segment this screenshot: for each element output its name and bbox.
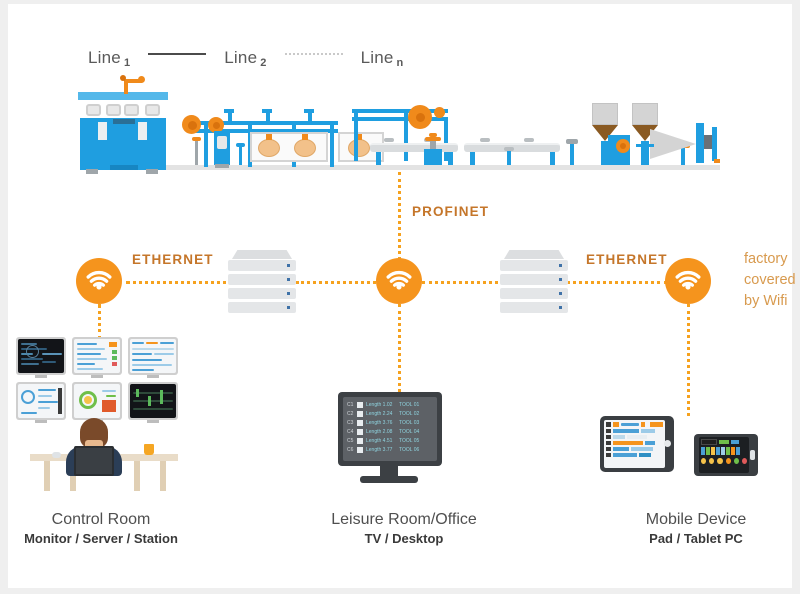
tv-row-value-secondary: TOOL 03 <box>399 420 425 426</box>
legend-label: Line <box>88 48 121 68</box>
phone-device[interactable] <box>694 434 758 476</box>
status-led <box>287 306 290 309</box>
ethernet-label-right: ETHERNET <box>586 252 668 267</box>
legend-item-line2: Line 2 <box>224 48 266 68</box>
caption-title: Control Room <box>8 510 194 530</box>
monitor-screen <box>74 384 120 418</box>
server-unit <box>500 288 568 299</box>
wifi-icon <box>85 269 113 293</box>
status-led <box>287 264 290 267</box>
tv-row-label: C4 <box>347 429 354 435</box>
caption-title: Mobile Device <box>600 510 792 530</box>
control-room-monitor-wall[interactable] <box>16 337 178 420</box>
tablet-device[interactable] <box>600 416 674 472</box>
tv-row-label: C5 <box>347 438 354 444</box>
server-unit <box>228 302 296 313</box>
caption-title: Leisure Room/Office <box>304 510 504 530</box>
tv-data-row: C4Length 2.08TOOL 04 <box>347 427 433 436</box>
status-led <box>559 278 562 281</box>
tv-row-value-primary: Length 3.76 <box>366 420 396 426</box>
status-led <box>559 306 562 309</box>
desktop-tv-monitor[interactable]: C1Length 1.02TOOL 01C2Length 2.24TOOL 02… <box>338 392 442 466</box>
feed-line-icon <box>636 142 654 148</box>
ethernet-link-4 <box>566 281 668 284</box>
legend-label: Line <box>361 48 394 68</box>
wifi-note-line: factory <box>744 249 800 270</box>
tv-stand-base <box>360 476 418 483</box>
tv-row-value-secondary: TOOL 06 <box>399 447 425 453</box>
caption-subtitle: Monitor / Server / Station <box>8 530 194 548</box>
tv-data-row: C3Length 3.76TOOL 03 <box>347 418 433 427</box>
tv-row-indicator <box>357 411 363 417</box>
monitor-screen <box>18 384 64 418</box>
tv-row-value-primary: Length 2.24 <box>366 411 396 417</box>
monitor-stand <box>35 420 47 423</box>
wifi-coverage-note: factory covered by Wifi <box>744 249 800 312</box>
tv-row-indicator <box>357 420 363 426</box>
monitor-screen <box>74 339 120 373</box>
monitor-screen <box>130 384 176 418</box>
tv-row-label: C3 <box>347 420 354 426</box>
vessel-cage-icon <box>250 132 328 162</box>
tv-row-value-secondary: TOOL 05 <box>399 438 425 444</box>
tv-row-value-secondary: TOOL 02 <box>399 411 425 417</box>
caption-subtitle: TV / Desktop <box>304 530 504 548</box>
tv-row-value-primary: Length 3.77 <box>366 447 396 453</box>
press-machine-icon <box>420 133 446 165</box>
tv-row-value-primary: Length 2.08 <box>366 429 396 435</box>
server-stack-right[interactable] <box>500 250 568 314</box>
tv-row-indicator <box>357 402 363 408</box>
status-led <box>559 264 562 267</box>
caption-mobile-device: Mobile Device Pad / Tablet PC <box>600 510 792 548</box>
monitor-2[interactable] <box>72 337 122 375</box>
monitor-1[interactable] <box>16 337 66 375</box>
extruder-icon <box>650 123 720 165</box>
status-led <box>287 278 290 281</box>
legend-subscript: 2 <box>260 57 266 69</box>
sensor-post-icon <box>566 139 578 165</box>
drop-link-control-room <box>98 304 101 340</box>
tv-screen: C1Length 1.02TOOL 01C2Length 2.24TOOL 02… <box>343 397 437 461</box>
tv-row-indicator <box>357 438 363 444</box>
monitor-6[interactable] <box>128 382 178 420</box>
legend-connector-dotted <box>285 53 343 55</box>
mouse-icon <box>52 452 61 458</box>
monitor-3[interactable] <box>128 337 178 375</box>
sensor-post-icon <box>504 147 514 165</box>
monitor-stand <box>147 375 159 378</box>
tv-data-row: C1Length 1.02TOOL 01 <box>347 400 433 409</box>
legend-label: Line <box>224 48 257 68</box>
legend-item-linen: Line n <box>361 48 404 68</box>
server-unit <box>500 260 568 271</box>
tv-row-label: C2 <box>347 411 354 417</box>
server-unit <box>228 274 296 285</box>
sensor-post-icon <box>236 143 244 165</box>
monitor-4[interactable] <box>16 382 66 420</box>
monitor-stand <box>147 420 159 423</box>
sensor-post-icon <box>192 137 200 165</box>
caption-control-room: Control Room Monitor / Server / Station <box>8 510 194 548</box>
molding-machine-icon <box>80 92 166 154</box>
status-led <box>559 292 562 295</box>
server-unit <box>500 274 568 285</box>
tablet-screen <box>604 420 665 468</box>
server-unit <box>500 302 568 313</box>
monitor-screen <box>18 339 64 373</box>
tv-data-row: C2Length 2.24TOOL 02 <box>347 409 433 418</box>
monitor-stand <box>91 375 103 378</box>
profinet-label: PROFINET <box>412 204 489 219</box>
phone-home-button[interactable] <box>750 450 755 460</box>
pillar-machine-icon <box>214 131 230 165</box>
tv-row-value-primary: Length 4.51 <box>366 438 396 444</box>
drop-link-mobile-device <box>687 304 690 416</box>
tv-row-indicator <box>357 447 363 453</box>
laptop-icon <box>74 446 114 476</box>
tv-row-value-secondary: TOOL 01 <box>399 402 425 408</box>
server-top-cap <box>504 250 564 259</box>
ethernet-link-3 <box>422 281 504 284</box>
production-line-illustration <box>80 92 720 170</box>
wifi-note-line: covered <box>744 270 800 291</box>
factory-floor <box>80 165 720 170</box>
tv-row-value-primary: Length 1.02 <box>366 402 396 408</box>
ethernet-link-1 <box>126 281 234 284</box>
ethernet-label-left: ETHERNET <box>132 252 214 267</box>
rotary-unit-icon <box>608 135 632 165</box>
ethernet-link-2 <box>296 281 376 284</box>
profinet-link-vertical <box>398 172 401 260</box>
legend-connector-solid <box>148 53 206 55</box>
wifi-node-center[interactable] <box>376 258 422 304</box>
wifi-node-left[interactable] <box>76 258 122 304</box>
monitor-screen <box>130 339 176 373</box>
monitor-5[interactable] <box>72 382 122 420</box>
wifi-icon <box>674 269 702 293</box>
drop-link-leisure-room <box>398 304 401 392</box>
tv-data-row: C5Length 4.51TOOL 05 <box>347 436 433 445</box>
diagram-canvas: Line 1 Line 2 Line n <box>8 4 792 588</box>
legend: Line 1 Line 2 Line n <box>88 42 403 74</box>
monitor-stand <box>35 375 47 378</box>
tv-row-label: C1 <box>347 402 354 408</box>
server-stack-left[interactable] <box>228 250 296 314</box>
wifi-icon <box>385 269 413 293</box>
tv-data-row: C6Length 3.77TOOL 06 <box>347 445 433 454</box>
tv-row-label: C6 <box>347 447 354 453</box>
tv-row-value-secondary: TOOL 04 <box>399 429 425 435</box>
phone-screen <box>699 437 749 473</box>
coffee-cup-icon <box>144 444 154 455</box>
tablet-home-button[interactable] <box>664 440 671 447</box>
server-unit <box>228 288 296 299</box>
wifi-note-line: by Wifi <box>744 291 800 312</box>
server-unit <box>228 260 296 271</box>
legend-item-line1: Line 1 <box>88 48 130 68</box>
legend-subscript: 1 <box>124 57 130 69</box>
status-led <box>287 292 290 295</box>
tv-row-indicator <box>357 429 363 435</box>
server-top-cap <box>232 250 292 259</box>
wifi-node-right[interactable] <box>665 258 711 304</box>
tv-stand-neck <box>380 466 398 476</box>
caption-subtitle: Pad / Tablet PC <box>600 530 792 548</box>
caption-leisure-room: Leisure Room/Office TV / Desktop <box>304 510 504 548</box>
legend-subscript: n <box>397 57 404 69</box>
